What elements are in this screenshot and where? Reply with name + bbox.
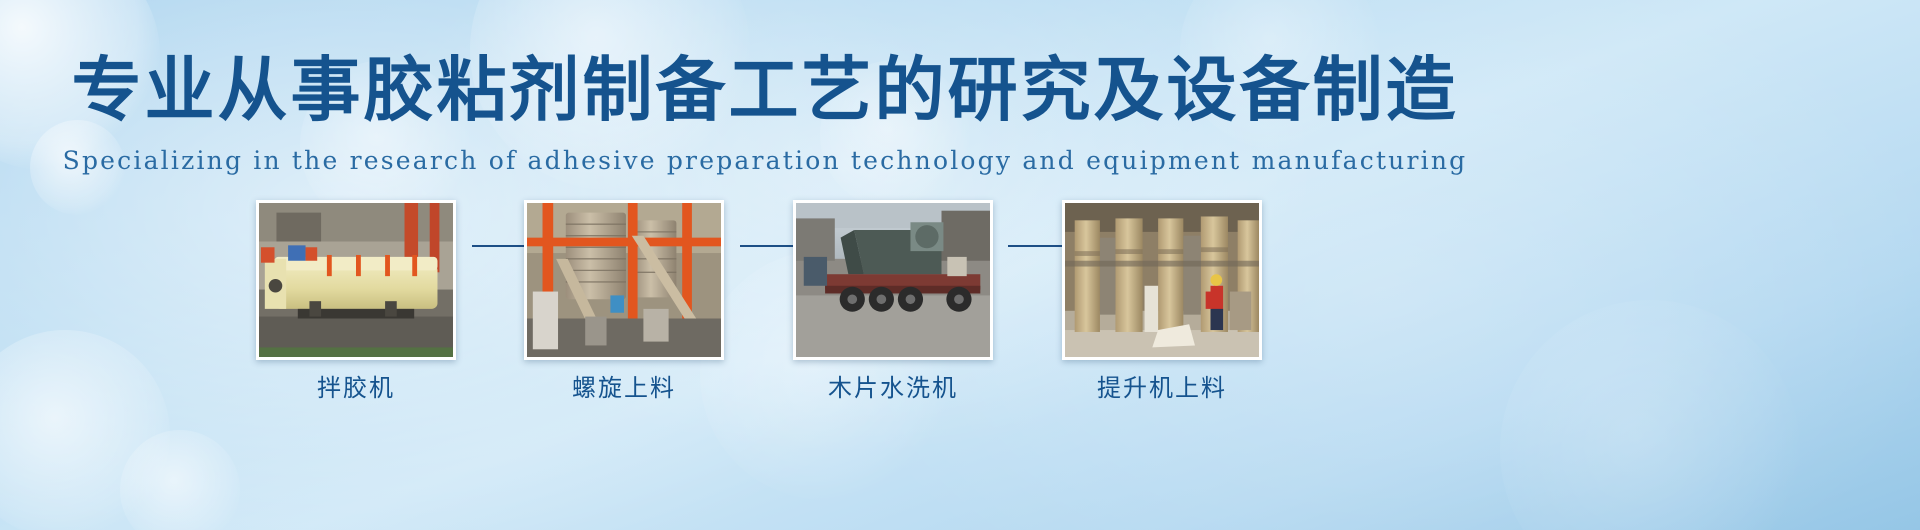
photo-wood-chip-washer[interactable] — [793, 200, 993, 360]
photo-elevator-feeding[interactable] — [1062, 200, 1262, 360]
gallery-caption: 螺旋上料 — [524, 376, 724, 400]
photo-screw-conveyor[interactable] — [524, 200, 724, 360]
banner-subheadline: Specializing in the research of adhesive… — [0, 148, 1530, 173]
process-gallery: 拌胶机 — [256, 200, 1296, 370]
gallery-item[interactable]: 拌胶机 — [256, 200, 456, 400]
gallery-item[interactable]: 提升机上料 — [1062, 200, 1262, 400]
photo-glue-mixer[interactable] — [256, 200, 456, 360]
bokeh-circle — [1500, 300, 1800, 530]
promo-banner: 专业从事胶粘剂制备工艺的研究及设备制造 Specializing in the … — [0, 0, 1920, 530]
gallery-caption: 拌胶机 — [256, 376, 456, 400]
gallery-item[interactable]: 木片水洗机 — [793, 200, 993, 400]
bokeh-circle — [0, 330, 170, 530]
gallery-caption: 提升机上料 — [1062, 376, 1262, 400]
gallery-caption: 木片水洗机 — [793, 376, 993, 400]
gallery-item[interactable]: 螺旋上料 — [524, 200, 724, 400]
banner-headline: 专业从事胶粘剂制备工艺的研究及设备制造 — [0, 55, 1530, 125]
bokeh-circle — [120, 430, 240, 530]
